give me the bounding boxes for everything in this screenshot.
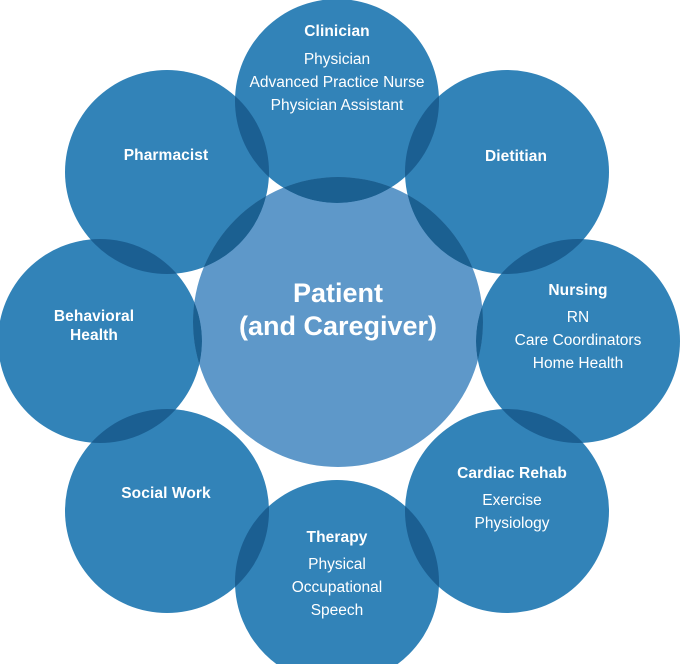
petal-title-behavioral-health: Behavioral <box>54 308 134 325</box>
petal-item-nursing-0: RN <box>567 309 589 326</box>
petal-item-cardiac-rehab-1: Physiology <box>475 515 550 532</box>
petal-item-clinician-0: Physician <box>304 51 370 68</box>
petal-item-therapy-1: Occupational <box>292 579 382 596</box>
petal-title-therapy: Therapy <box>307 529 368 546</box>
petal-item-nursing-2: Home Health <box>533 355 623 372</box>
center-title-line2: (and Caregiver) <box>239 311 437 341</box>
flower-diagram-canvas: Clinician Physician Advanced Practice Nu… <box>0 0 680 664</box>
care-team-diagram: Clinician Physician Advanced Practice Nu… <box>0 0 680 664</box>
petal-item-clinician-1: Advanced Practice Nurse <box>250 74 425 91</box>
petal-item-cardiac-rehab-0: Exercise <box>482 492 541 509</box>
petal-label-dietitian: Dietitian <box>485 148 547 165</box>
petal-title-behavioral-health-line2: Health <box>70 327 118 344</box>
petal-item-clinician-2: Physician Assistant <box>271 97 404 114</box>
petal-item-therapy-2: Speech <box>311 602 364 619</box>
petal-title-clinician: Clinician <box>304 23 370 40</box>
petal-title-cardiac-rehab: Cardiac Rehab <box>457 465 567 482</box>
petal-title-nursing: Nursing <box>548 282 607 299</box>
petal-item-therapy-0: Physical <box>308 556 366 573</box>
petal-title-social-work: Social Work <box>121 485 211 502</box>
petal-title-pharmacist: Pharmacist <box>124 147 209 164</box>
petal-label-pharmacist: Pharmacist <box>124 147 209 164</box>
petal-item-nursing-1: Care Coordinators <box>515 332 642 349</box>
petal-label-social-work: Social Work <box>121 485 211 502</box>
center-title-line1: Patient <box>293 278 383 308</box>
petal-title-dietitian: Dietitian <box>485 148 547 165</box>
